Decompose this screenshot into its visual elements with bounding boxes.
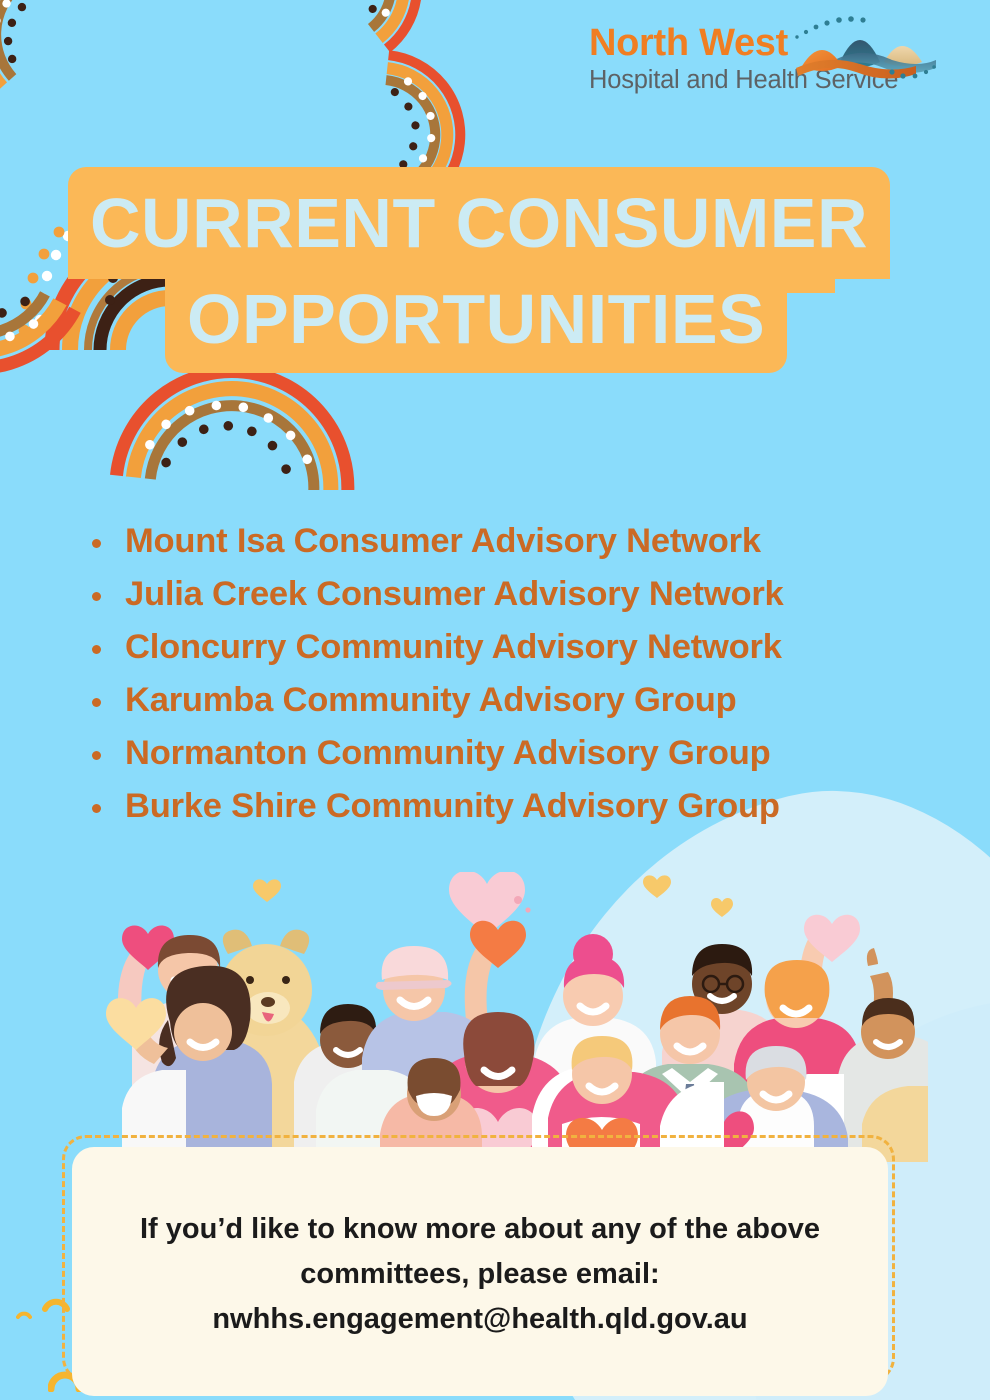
list-item: Mount Isa Consumer Advisory Network <box>86 515 916 568</box>
poster-canvas: North West Hospital and Health Service C… <box>0 0 990 1400</box>
organisation-logo: North West Hospital and Health Service <box>588 24 938 94</box>
title-line-2: OPPORTUNITIES <box>165 273 787 373</box>
list-item: Normanton Community Advisory Group <box>86 727 916 780</box>
contact-message-line-2: committees, please email: <box>300 1252 659 1297</box>
list-item: Cloncurry Community Advisory Network <box>86 621 916 674</box>
list-item: Julia Creek Consumer Advisory Network <box>86 568 916 621</box>
contact-message-line-1: If you’d like to know more about any of … <box>140 1207 820 1252</box>
crescent-decoration-small-icon <box>16 1306 32 1320</box>
diverse-crowd-illustration <box>62 872 928 1162</box>
page-title: CURRENT CONSUMER OPPORTUNITIES <box>0 167 990 367</box>
hills-logo-mark-icon <box>788 10 938 88</box>
contact-email-address[interactable]: nwhhs.engagement@health.qld.gov.au <box>212 1297 747 1342</box>
list-item: Burke Shire Community Advisory Group <box>86 780 916 833</box>
opportunities-list: Mount Isa Consumer Advisory Network Juli… <box>86 515 916 833</box>
title-line-1: CURRENT CONSUMER <box>68 167 890 279</box>
list-item: Karumba Community Advisory Group <box>86 674 916 727</box>
contact-info-card: If you’d like to know more about any of … <box>72 1147 888 1396</box>
